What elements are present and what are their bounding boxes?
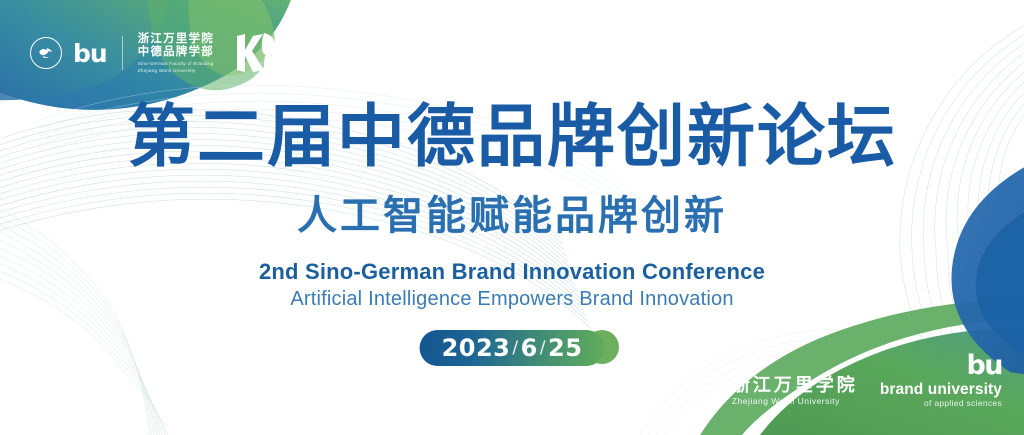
page-title-en: 2nd Sino-German Brand Innovation Confere… xyxy=(0,258,1024,286)
bottom-zwu-cn-name: 浙江万里学院 xyxy=(732,376,858,397)
bottom-zwu-en-name: Zhejiang Wanli University xyxy=(732,397,858,407)
bottom-zwu-text: 浙江万里学院 Zhejiang Wanli University xyxy=(732,376,858,407)
date-separator-1: / xyxy=(512,338,518,358)
zhejiang-wanli-crest-icon-bottom xyxy=(694,377,723,406)
zwu-cn-line2: 中德品牌学部 xyxy=(138,46,214,60)
date-month: 6 xyxy=(521,334,538,362)
bottom-bu-logo: bu brand university of applied sciences xyxy=(880,354,1002,407)
kik-logo-lockup: 中德品牌 创新论坛 Sino-German Brand Innovation C… xyxy=(233,27,337,80)
date-year: 2023 xyxy=(442,334,511,362)
kik-en-line2: Brand Innovation xyxy=(287,60,337,70)
bu-name: brand university xyxy=(880,382,1002,398)
page-subtitle-cn: 人工智能赋能品牌创新 xyxy=(0,196,1024,236)
page-subtitle-en: Artificial Intelligence Empowers Brand I… xyxy=(0,287,1024,312)
kik-cn-line2: 创新论坛 xyxy=(287,39,337,51)
date-day: 25 xyxy=(548,334,582,362)
kik-cn-line1: 中德品牌 xyxy=(287,27,337,39)
logo-divider xyxy=(122,36,123,70)
bu-wordmark-bottom: bu xyxy=(966,354,1002,378)
top-logo-lockup: bu 浙江万里学院 中德品牌学部 Sino-German Faculty of … xyxy=(30,27,337,80)
kik-en-line3: Conference xyxy=(287,70,337,80)
kik-butterfly-logo-icon xyxy=(233,30,279,76)
event-date-badge: 2023 / 6 / 25 xyxy=(420,330,605,366)
zwu-en-line2: Zhejiang Wanli University xyxy=(138,68,214,73)
bu-wordmark-top: bu xyxy=(73,41,107,66)
zhejiang-wanli-crest-icon xyxy=(30,37,62,69)
date-separator-2: / xyxy=(540,338,546,358)
zwu-en-line1: Sino-German Faculty of Branding xyxy=(138,61,214,66)
page-title-cn: 第二届中德品牌创新论坛 xyxy=(0,104,1024,172)
zwu-cn-line1: 浙江万里学院 xyxy=(138,33,214,47)
kik-en-line1: Sino-German xyxy=(287,51,337,61)
bottom-zwu-logo: 浙江万里学院 Zhejiang Wanli University xyxy=(694,376,858,407)
conference-banner: bu 浙江万里学院 中德品牌学部 Sino-German Faculty of … xyxy=(0,0,1024,435)
bu-tagline: of applied sciences xyxy=(924,399,1002,408)
bottom-logo-lockup: 浙江万里学院 Zhejiang Wanli University bu bran… xyxy=(694,354,1002,407)
zwu-text-block: 浙江万里学院 中德品牌学部 Sino-German Faculty of Bra… xyxy=(138,33,214,74)
kik-text-block: 中德品牌 创新论坛 Sino-German Brand Innovation C… xyxy=(287,27,337,80)
